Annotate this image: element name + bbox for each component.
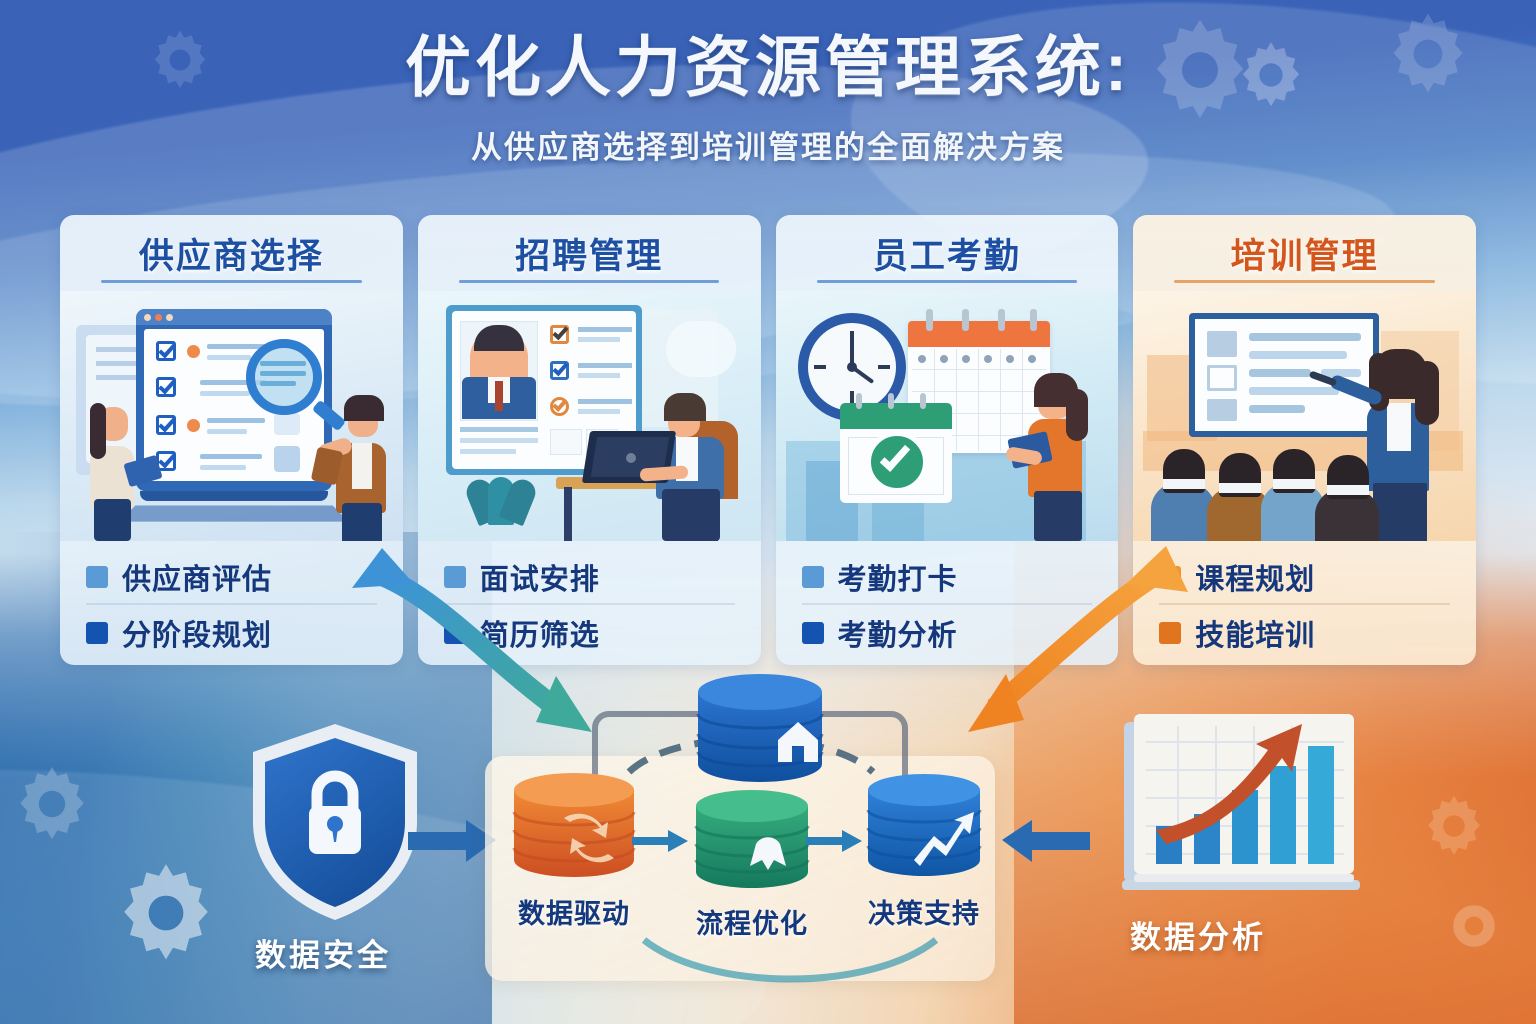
cylinder-label: 数据驱动 xyxy=(486,892,662,931)
cool-double-arrow xyxy=(330,540,620,750)
page-title: 优化人力资源管理系统: xyxy=(405,33,1131,102)
card-header: 员工考勤 xyxy=(776,215,1119,291)
bullet-square xyxy=(802,622,824,644)
analytics-to-hub-arrow xyxy=(1000,818,1090,868)
bullet-label: 考勤打卡 xyxy=(838,556,958,598)
card-title-underline xyxy=(1174,280,1435,283)
workflow-bottom-curve xyxy=(640,936,940,996)
bullet-label: 考勤分析 xyxy=(838,612,958,654)
magnifier-icon xyxy=(246,339,322,415)
page-header: 优化人力资源管理系统: 从供应商选择到培训管理的全面解决方案 xyxy=(0,0,1536,200)
page-subtitle: 从供应商选择到培训管理的全面解决方案 xyxy=(471,122,1065,167)
clock-calendar-illustration xyxy=(776,291,1119,541)
card-title-underline xyxy=(459,280,720,283)
warm-double-arrow xyxy=(990,540,1280,750)
cylinder-process-optimize[interactable]: 流程优化 xyxy=(690,788,814,898)
card-title-underline xyxy=(817,280,1078,283)
bullet-label: 供应商评估 xyxy=(122,556,272,598)
bullet-square xyxy=(86,566,108,588)
resume-screening-illustration xyxy=(418,291,761,541)
card-header: 培训管理 xyxy=(1133,215,1476,291)
bullet-label: 分阶段规划 xyxy=(122,612,272,654)
card-title: 招聘管理 xyxy=(515,228,663,279)
card-title: 供应商选择 xyxy=(139,228,324,279)
cylinder-label: 决策支持 xyxy=(840,892,1008,931)
card-header: 供应商选择 xyxy=(60,215,403,291)
cylinder-central-hub[interactable] xyxy=(690,670,830,790)
cylinder-data-drive[interactable]: 数据驱动 xyxy=(508,770,640,888)
checklist-magnifier-illustration xyxy=(60,291,403,541)
classroom-training-illustration xyxy=(1133,291,1476,541)
drive-to-optimize-arrow xyxy=(632,828,694,854)
card-header: 招聘管理 xyxy=(418,215,761,291)
card-title: 培训管理 xyxy=(1231,228,1379,279)
card-title-underline xyxy=(101,280,362,283)
analytics-label: 数据分析 xyxy=(1130,912,1266,957)
workflow-section: 数据安全 xyxy=(0,660,1536,1024)
bullet-square xyxy=(802,566,824,588)
optimize-to-decision-arrow xyxy=(806,828,868,854)
bullet-square xyxy=(86,622,108,644)
cylinder-decision-support[interactable]: 决策支持 xyxy=(862,772,986,888)
security-label: 数据安全 xyxy=(255,930,391,975)
card-title: 员工考勤 xyxy=(873,228,1021,279)
